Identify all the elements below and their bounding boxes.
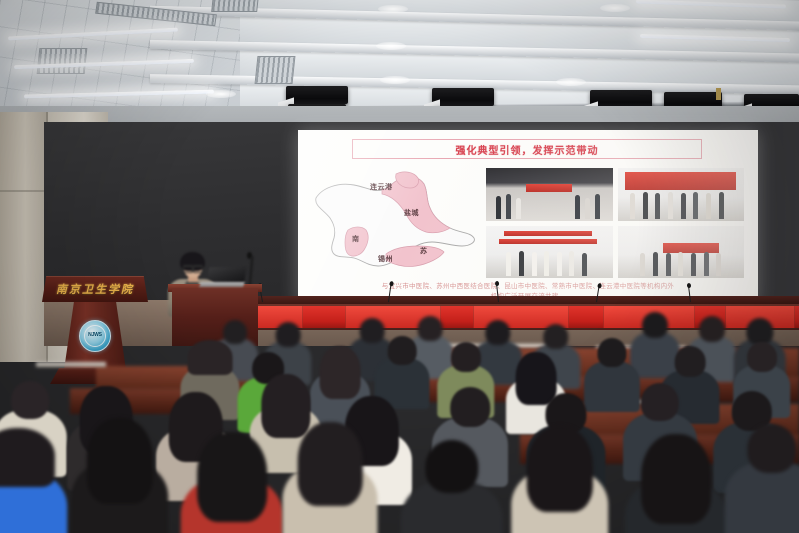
audience-long-hair: [197, 432, 267, 522]
photo3-banner: [499, 239, 598, 244]
photo3-person: [544, 251, 549, 276]
audience-long-hair: [298, 422, 363, 506]
audience-head: [276, 322, 301, 347]
slide-photo-2: [618, 168, 745, 221]
photo2-person: [693, 192, 698, 218]
stage-spotlight: [286, 86, 348, 104]
air-vent: [211, 0, 259, 12]
photo3-person: [532, 252, 537, 276]
ceiling-downlight: [376, 42, 406, 50]
slide-photo-3: [486, 226, 613, 279]
photo3-person: [519, 251, 524, 276]
audience-head: [675, 346, 706, 377]
photo1-person: [506, 194, 511, 218]
audience-member: [281, 422, 380, 533]
photo1-banner: [526, 184, 572, 192]
ceiling-downlight: [206, 90, 236, 98]
audience-torso: [724, 462, 799, 533]
audience-long-hair: [320, 346, 361, 399]
photo2-banner: [625, 172, 736, 190]
photo1-person: [496, 196, 501, 218]
audience-head: [543, 324, 568, 349]
audience-member: [723, 420, 799, 533]
map-label-nanjing: 南: [352, 234, 360, 244]
projection-screen: 强化典型引领，发挥示范带动 连云港 盐城 南 锡州 苏: [298, 130, 758, 305]
stage-spotlight: [432, 88, 494, 106]
ceiling-downlight: [380, 76, 410, 84]
photo2-person: [630, 193, 635, 218]
photo3-person: [506, 252, 511, 276]
air-vent: [37, 48, 88, 74]
map-label-suzhou: 苏: [420, 246, 428, 256]
presenter-laptop-base: [199, 282, 244, 287]
audience-member: [69, 418, 170, 533]
audience-desk: [36, 362, 106, 367]
audience-head: [642, 312, 668, 338]
slide-title: 强化典型引领，发挥示范带动: [456, 142, 599, 157]
photo3-person: [557, 252, 562, 276]
map-label-xizhou: 锡州: [378, 254, 393, 264]
photo2-person: [706, 193, 711, 218]
audience-head: [747, 342, 777, 372]
photo1-person: [585, 198, 590, 219]
photo4-banner: [663, 243, 719, 252]
presentation-hall-photo: 强化典型引领，发挥示范带动 连云港 盐城 南 锡州 苏: [0, 0, 799, 533]
audience-member: [179, 432, 286, 533]
slide-photo-grid: [486, 168, 744, 278]
photo4-person: [691, 253, 696, 276]
slide-photo-4: [618, 226, 745, 279]
photo1-person: [516, 198, 521, 219]
audience-head: [451, 342, 481, 372]
spotlight-yoke: [716, 88, 721, 100]
presenter-glasses: [183, 265, 203, 270]
photo4-person: [704, 252, 709, 276]
photo4-person: [678, 252, 683, 276]
photo3-person: [569, 251, 574, 276]
ceiling-downlight: [600, 4, 630, 12]
audience-head: [11, 381, 49, 419]
ceiling-downlight: [556, 78, 586, 86]
audience-long-hair: [87, 418, 153, 504]
ceiling-downlight: [378, 5, 408, 13]
audience-head: [450, 387, 490, 427]
photo1-person: [595, 194, 600, 218]
photo1-room: [486, 168, 613, 221]
photo3-person: [582, 253, 587, 276]
photo4-person: [716, 253, 721, 276]
audience-head: [641, 383, 679, 421]
photo2-person: [655, 193, 660, 218]
audience-long-hair: [527, 426, 593, 512]
slide-photo-1: [486, 168, 613, 221]
audience-head: [388, 336, 417, 365]
audience-area: [0, 300, 799, 533]
audience-member: [509, 426, 610, 533]
audience-member: [0, 428, 69, 533]
map-region-south: [386, 246, 444, 267]
audience-member: [623, 434, 730, 533]
map-svg: [308, 166, 478, 278]
photo4-person: [640, 253, 645, 276]
photo4-person: [666, 253, 671, 276]
audience-head: [747, 424, 796, 473]
audience-head: [597, 338, 626, 367]
air-vent: [255, 56, 296, 84]
photo2-person: [668, 192, 673, 218]
map-label-lianyungang: 连云港: [370, 182, 393, 192]
audience-head: [425, 440, 478, 493]
map-label-yancheng: 盐城: [404, 208, 419, 218]
slide-title-box: 强化典型引领，发挥示范带动: [352, 139, 702, 159]
photo1-person: [575, 195, 580, 218]
audience-hood: [188, 340, 233, 375]
photo4-person: [653, 252, 658, 276]
photo2-person: [643, 192, 648, 218]
photo2-person: [681, 193, 686, 218]
photo2-person: [719, 192, 724, 218]
podium-institution-name: 南京卫生学院: [42, 281, 148, 297]
audience-member: [399, 436, 506, 533]
slide-caption-line1: 与宜兴市中医院、苏州中西医结合医院、昆山市中医院、常熟市中医院、连云港中医院等机…: [316, 282, 740, 292]
audience-hood: [0, 428, 55, 487]
photo3-banner: [504, 231, 593, 236]
jiangsu-map: 连云港 盐城 南 锡州 苏: [308, 166, 478, 278]
audience-long-hair: [641, 434, 711, 524]
audience-head: [699, 316, 725, 342]
